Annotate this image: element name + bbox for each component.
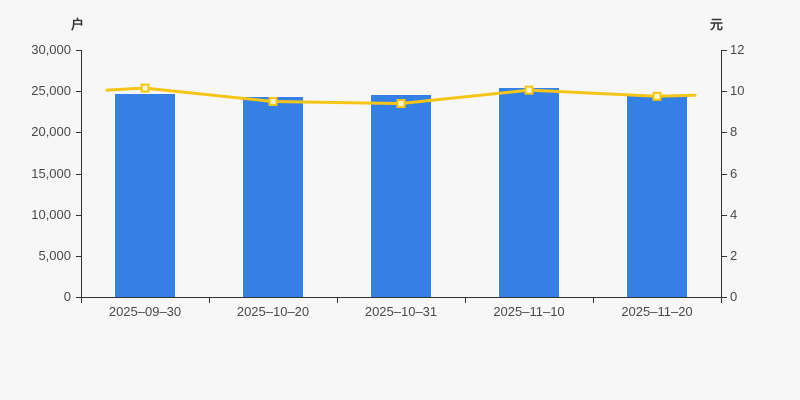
x-axis-tick-mark [593, 298, 594, 303]
x-axis-tick-mark [465, 298, 466, 303]
y-axis-right-tick-label: 0 [730, 290, 737, 303]
x-axis-category-label: 2025–10–20 [237, 305, 309, 318]
y-axis-right-tick-label: 12 [730, 43, 744, 56]
y-axis-left-line [81, 50, 82, 298]
chart-container: 户 元 05,00010,00015,00020,00025,00030,000… [0, 0, 800, 400]
y-axis-right-tick-mark [722, 174, 727, 175]
y-axis-right-tick-label: 10 [730, 84, 744, 97]
x-axis-category-label: 2025–11–10 [493, 305, 564, 318]
bar-column[interactable] [627, 96, 687, 297]
y-axis-left-tick-mark [76, 215, 81, 216]
x-axis-tick-mark [337, 298, 338, 303]
line-lead-segment [107, 88, 145, 90]
y-axis-left-tick-mark [76, 50, 81, 51]
y-axis-right-tick-label: 2 [730, 249, 737, 262]
y-axis-right-tick-mark [722, 50, 727, 51]
right-axis-unit-label: 元 [710, 14, 723, 33]
bar-column[interactable] [243, 97, 303, 297]
y-axis-left-tick-label: 5,000 [38, 249, 71, 262]
y-axis-right-tick-label: 4 [730, 208, 737, 221]
y-axis-left-tick-label: 20,000 [31, 125, 71, 138]
y-axis-left-tick-label: 15,000 [31, 167, 71, 180]
bar-column[interactable] [371, 95, 431, 297]
y-axis-left-tick-mark [76, 174, 81, 175]
x-axis-line [81, 297, 722, 298]
y-axis-right-tick-mark [722, 215, 727, 216]
x-axis-tick-mark [209, 298, 210, 303]
y-axis-right-tick-mark [722, 256, 727, 257]
y-axis-left-tick-mark [76, 132, 81, 133]
y-axis-right-tick-label: 6 [730, 167, 737, 180]
x-axis-category-label: 2025–11–20 [621, 305, 692, 318]
y-axis-left-tick-label: 30,000 [31, 43, 71, 56]
y-axis-right-tick-mark [722, 132, 727, 133]
x-axis-category-label: 2025–10–31 [365, 305, 437, 318]
y-axis-left-tick-label: 10,000 [31, 208, 71, 221]
y-axis-left-tick-mark [76, 256, 81, 257]
x-axis-category-label: 2025–09–30 [109, 305, 181, 318]
bar-column[interactable] [115, 94, 175, 297]
y-axis-left-tick-label: 0 [64, 290, 71, 303]
left-axis-unit-label: 户 [71, 14, 84, 33]
line-data-marker[interactable]: 2025–09–30 10.15元 [142, 85, 149, 92]
y-axis-right-tick-label: 8 [730, 125, 737, 138]
y-axis-right-tick-mark [722, 297, 727, 298]
x-axis-tick-mark [81, 298, 82, 303]
y-axis-right-tick-mark [722, 91, 727, 92]
y-axis-left-tick-label: 25,000 [31, 84, 71, 97]
y-axis-left-tick-mark [76, 91, 81, 92]
x-axis-tick-mark [721, 298, 722, 303]
bar-column[interactable] [499, 88, 559, 297]
